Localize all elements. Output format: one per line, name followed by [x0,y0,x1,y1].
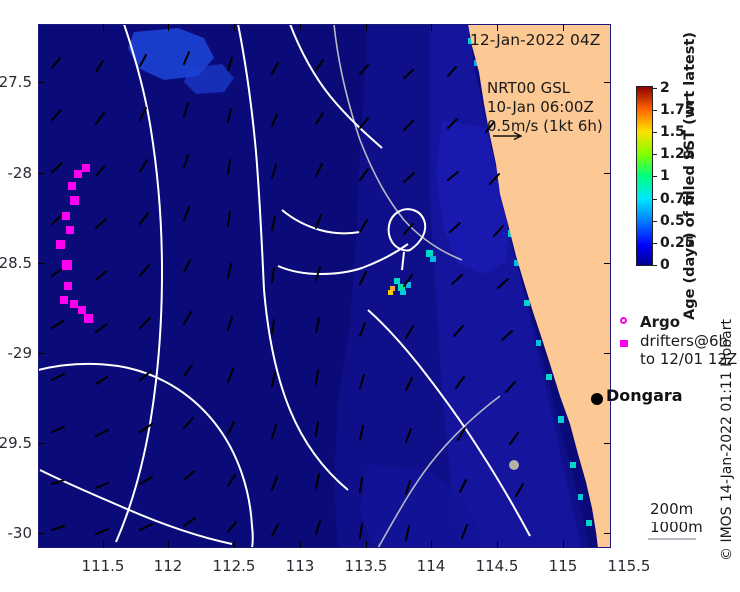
colorbar-tick-label: 2 [660,80,670,96]
argo-legend-label: Argo [640,313,680,331]
x-tick [497,541,498,548]
y-tick-label: -29.5 [0,434,32,452]
contour-1000m-sample-line [648,538,696,540]
copyright-label: © IMOS 14-Jan-2022 01:11 Hobart [719,319,735,561]
colorbar-tick [653,132,657,133]
y-tick-label: -29 [8,344,33,362]
model-time-label: 10-Jan 06:00Z [487,98,603,117]
x-tick [431,541,432,548]
figure-canvas: 111.5 112 112.5 113 113.5 114 114.5 115 … [0,0,740,592]
x-tick [563,24,564,31]
date-stamp-label: 12-Jan-2022 04Z [470,31,600,49]
y-tick-label: -27.5 [0,73,32,91]
x-tick-label: 113 [286,557,315,575]
model-info-block: NRT00 GSL 10-Jan 06:00Z 0.5m/s (1kt 6h) [487,79,603,136]
y-tick [38,173,45,174]
y-tick [604,82,611,83]
x-tick [366,24,367,31]
y-tick [38,353,45,354]
x-tick [563,541,564,548]
vector-scale-arrow-icon [492,131,526,141]
x-tick [300,24,301,31]
x-tick [103,24,104,31]
colorbar-title: Age (days) of filled SST (wrt latest) [682,32,698,320]
x-tick [497,24,498,31]
y-tick [38,82,45,83]
argo-marker-icon [620,317,627,324]
y-tick [604,263,611,264]
x-tick [431,24,432,31]
colorbar-tick [653,88,657,89]
x-tick-label: 114.5 [476,557,519,575]
colorbar-tick [653,154,657,155]
colorbar-tick [653,243,657,244]
y-tick [38,443,45,444]
x-tick [234,24,235,31]
y-tick-label: -28 [8,164,33,182]
y-tick [604,443,611,444]
y-tick [38,533,45,534]
y-tick [604,353,611,354]
model-name-label: NRT00 GSL [487,79,603,98]
dongara-city-marker [591,393,603,405]
y-tick-label: -30 [8,524,33,542]
x-tick [168,24,169,31]
colorbar-tick [653,221,657,222]
drifter-marker-icon [620,340,628,347]
x-tick-label: 114 [417,557,446,575]
x-tick [234,541,235,548]
contour-200m-label: 200m [650,500,703,518]
dongara-city-label: Dongara [606,386,683,405]
y-tick-label: -28.5 [0,254,32,272]
colorbar-tick [653,110,657,111]
y-tick [604,173,611,174]
x-tick-label: 111.5 [82,557,125,575]
y-tick [604,533,611,534]
colorbar-tick [653,265,657,266]
colorbar-tick-label: 0 [660,257,670,273]
x-tick-label: 115.5 [608,557,651,575]
x-tick-label: 113.5 [345,557,388,575]
colorbar-tick-label: 1 [660,168,670,184]
x-tick-label: 115 [549,557,578,575]
x-tick-label: 112 [154,557,183,575]
colorbar-gradient [636,86,653,266]
x-tick [103,541,104,548]
x-tick [366,541,367,548]
x-tick [300,541,301,548]
y-tick [38,263,45,264]
x-tick-label: 112.5 [213,557,256,575]
x-tick [168,541,169,548]
drifter-legend-label-1: drifters@6h [640,332,728,350]
colorbar-tick [653,176,657,177]
bathymetry-legend: 200m 1000m [650,500,703,536]
contour-200m-sample-line [648,520,696,522]
colorbar-tick [653,199,657,200]
